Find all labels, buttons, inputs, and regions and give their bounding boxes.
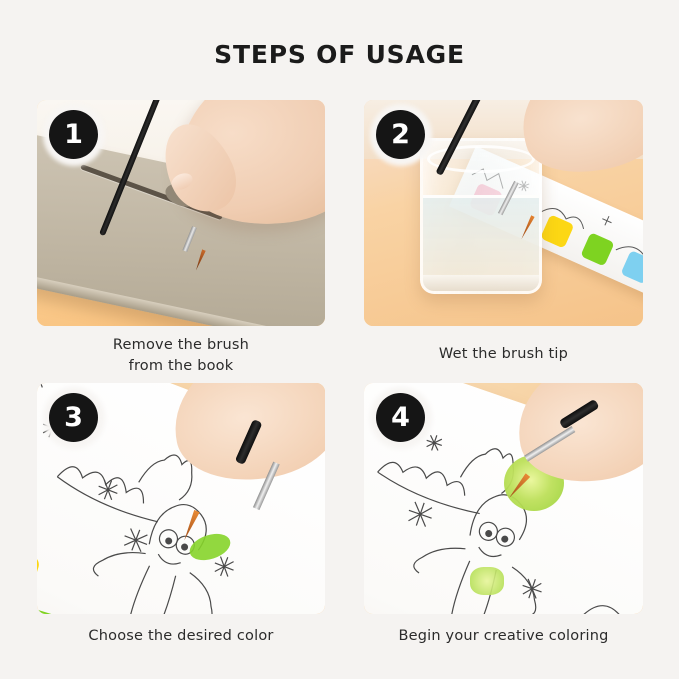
- badge-number: 4: [376, 393, 425, 442]
- step-panel-1: 1: [37, 100, 325, 326]
- badge-number: 3: [49, 393, 98, 442]
- step-badge-2: 2: [370, 104, 432, 166]
- step-caption-4: Begin your creative coloring: [364, 626, 643, 647]
- badge-number: 2: [376, 110, 425, 159]
- glass-base: [423, 275, 539, 291]
- step-panel-3: 3: [37, 383, 325, 614]
- step-panel-2: 2: [364, 100, 643, 326]
- step-caption-3: Choose the desired color: [37, 626, 325, 647]
- page-title: STEPS OF USAGE: [0, 40, 679, 69]
- step-caption-2: Wet the brush tip: [364, 344, 643, 365]
- paint-residue-on-green-swatch: [470, 567, 504, 595]
- step-panel-4: 4: [364, 383, 643, 614]
- step-badge-1: 1: [43, 104, 105, 166]
- caption-line-2: from the book: [37, 356, 325, 377]
- step-badge-3: 3: [43, 387, 105, 449]
- caption-line-1: Wet the brush tip: [364, 344, 643, 365]
- caption-line-1: Begin your creative coloring: [364, 626, 643, 647]
- step-badge-4: 4: [370, 387, 432, 449]
- step-caption-1: Remove the brush from the book: [37, 335, 325, 377]
- water-glass: [420, 138, 542, 294]
- badge-number: 1: [49, 110, 98, 159]
- steps-of-usage-page: STEPS OF USAGE 1 Remove the brush from t…: [0, 0, 679, 679]
- caption-line-1: Remove the brush: [37, 335, 325, 356]
- caption-line-1: Choose the desired color: [37, 626, 325, 647]
